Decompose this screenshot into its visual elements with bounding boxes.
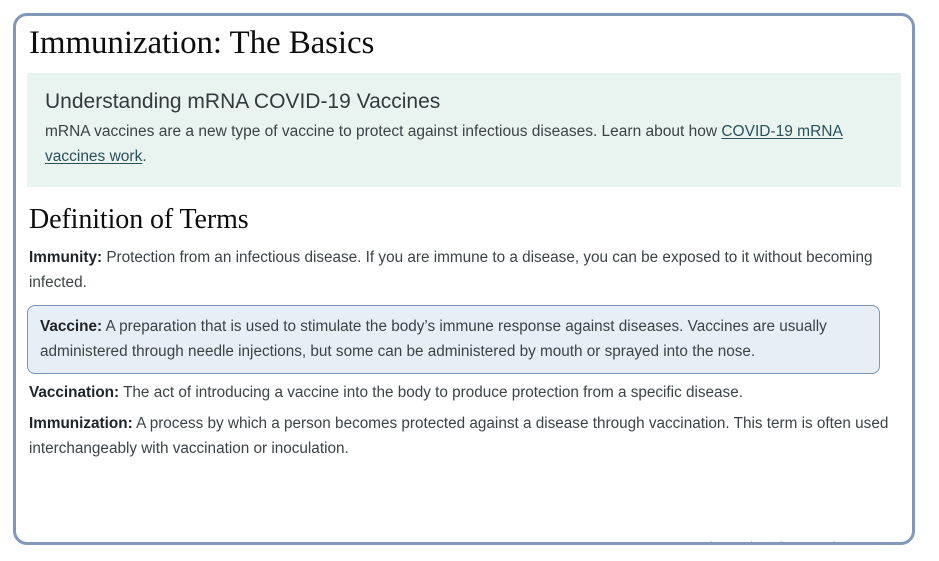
definition-term-text: A preparation that is used to stimulate … [40,318,827,360]
definition-item-vaccine[interactable]: Vaccine: A preparation that is used to s… [27,305,880,374]
definition-term-label: Vaccination: [29,384,119,401]
definition-term-label: Vaccine: [40,318,102,335]
callout-heading: Understanding mRNA COVID-19 Vaccines [45,89,883,115]
definition-term-text: The act of introducing a vaccine into th… [119,384,743,401]
callout-body-text-after-link: . [142,148,146,165]
definition-item-immunization: Immunization: A process by which a perso… [29,411,901,461]
callout-body: mRNA vaccines are a new type of vaccine … [45,119,883,169]
definition-item-vaccination: Vaccination: The act of introducing a va… [29,380,901,405]
definition-term-label: Immunization: [29,415,133,432]
callout-box: Understanding mRNA COVID-19 Vaccines mRN… [27,73,901,187]
definition-item-immunity: Immunity: Protection from an infectious … [29,245,901,295]
definition-term-label: Immunity: [29,249,102,266]
definition-term-text: A process by which a person becomes prot… [29,415,888,457]
definition-term-text: Protection from an infectious disease. I… [29,249,872,291]
definitions-section-heading: Definition of Terms [29,203,901,236]
page-last-reviewed-note: Page last reviewed: September 1, 2021 [677,538,896,545]
document-card: Immunization: The Basics Understanding m… [13,13,915,545]
document-content: Immunization: The Basics Understanding m… [16,24,912,545]
callout-body-text-before-link: mRNA vaccines are a new type of vaccine … [45,123,721,140]
page-title: Immunization: The Basics [29,24,901,62]
